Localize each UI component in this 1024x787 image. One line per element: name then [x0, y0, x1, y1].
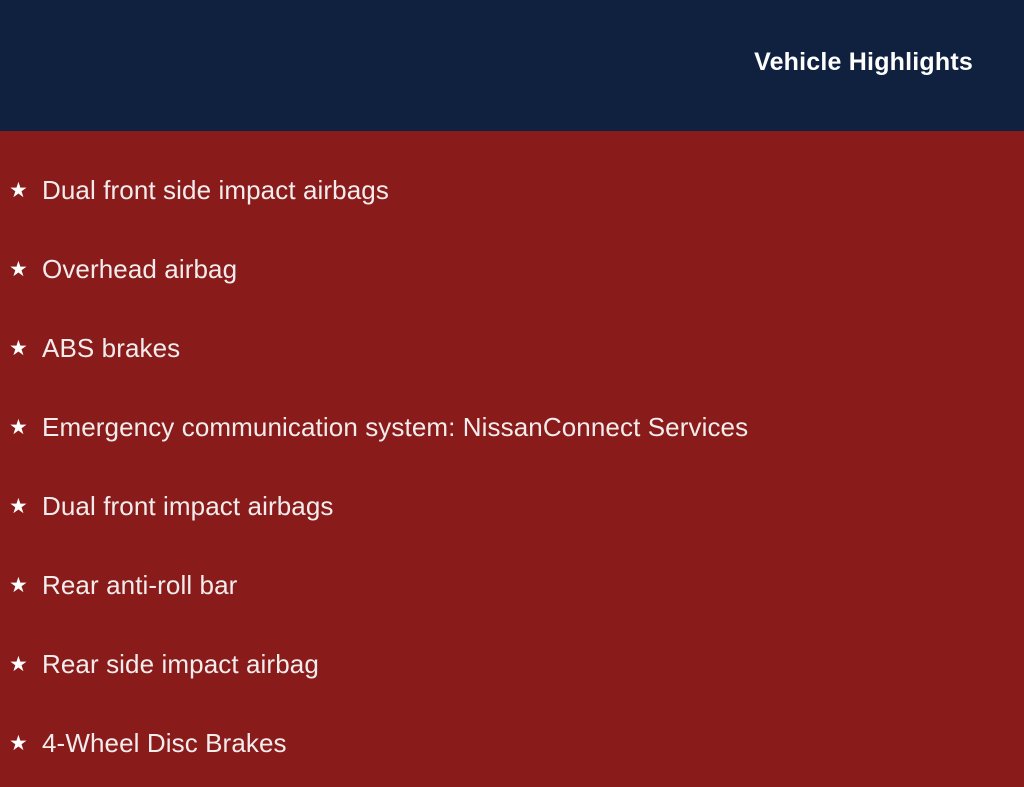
vehicle-highlights-list: ★ Dual front side impact airbags ★ Overh…: [0, 151, 1024, 783]
list-item-label: ABS brakes: [42, 309, 180, 388]
star-icon: ★: [9, 625, 31, 704]
list-item-label: Rear anti-roll bar: [42, 546, 237, 625]
star-icon: ★: [9, 388, 31, 467]
slide-root: Vehicle Highlights ★ Dual front side imp…: [0, 0, 1024, 768]
star-icon: ★: [9, 309, 31, 388]
slide-header-band: Vehicle Highlights: [0, 0, 1024, 131]
list-item: ★ Rear side impact airbag: [0, 625, 1024, 704]
list-item-label: 4-Wheel Disc Brakes: [42, 704, 287, 783]
list-item: ★ 4-Wheel Disc Brakes: [0, 704, 1024, 783]
list-item-label: Dual front side impact airbags: [42, 151, 389, 230]
star-icon: ★: [9, 151, 31, 230]
list-item: ★ Emergency communication system: Nissan…: [0, 388, 1024, 467]
list-item-label: Rear side impact airbag: [42, 625, 319, 704]
list-item: ★ Overhead airbag: [0, 230, 1024, 309]
star-icon: ★: [9, 546, 31, 625]
slide-body: ★ Dual front side impact airbags ★ Overh…: [0, 131, 1024, 768]
star-icon: ★: [9, 704, 31, 783]
list-item: ★ Dual front impact airbags: [0, 467, 1024, 546]
list-item: ★ Dual front side impact airbags: [0, 151, 1024, 230]
star-icon: ★: [9, 230, 31, 309]
list-item: ★ ABS brakes: [0, 309, 1024, 388]
star-icon: ★: [9, 467, 31, 546]
list-item-label: Emergency communication system: NissanCo…: [42, 388, 748, 467]
list-item-label: Overhead airbag: [42, 230, 237, 309]
list-item-label: Dual front impact airbags: [42, 467, 334, 546]
page-title: Vehicle Highlights: [754, 47, 973, 77]
list-item: ★ Rear anti-roll bar: [0, 546, 1024, 625]
